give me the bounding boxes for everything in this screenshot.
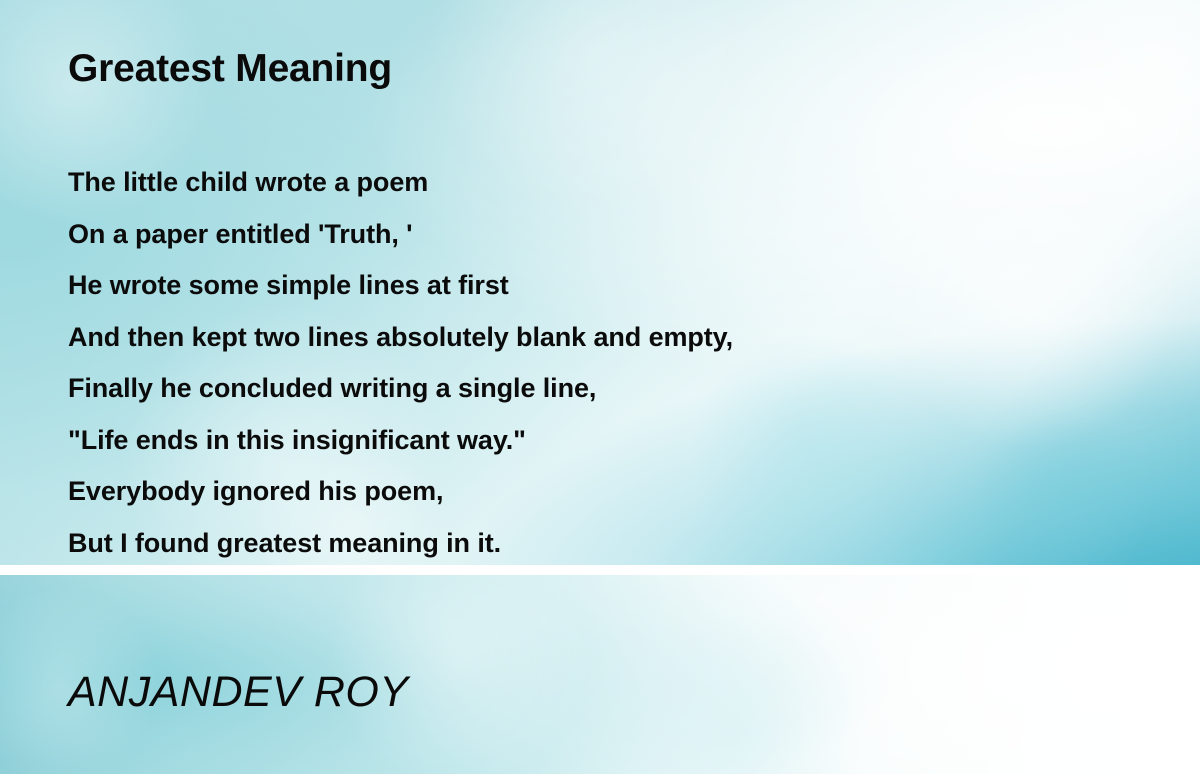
author-name: ANJANDEV ROY: [68, 668, 409, 717]
poem-content: Greatest Meaning The little child wrote …: [0, 0, 1200, 570]
panel-divider: [0, 565, 1200, 575]
poem-line: And then kept two lines absolutely blank…: [68, 312, 1128, 364]
poem-line: The little child wrote a poem: [68, 157, 1128, 209]
poem-line: "Life ends in this insignificant way.": [68, 415, 1128, 467]
bokeh-blur-circle: [620, 615, 860, 774]
poem-panel: Greatest Meaning The little child wrote …: [0, 0, 1200, 570]
poem-title: Greatest Meaning: [68, 47, 392, 91]
poem-line: Finally he concluded writing a single li…: [68, 363, 1128, 415]
poem-line: Everybody ignored his poem,: [68, 466, 1128, 518]
poem-line: He wrote some simple lines at first: [68, 260, 1128, 312]
poem-line: On a paper entitled 'Truth, ': [68, 209, 1128, 261]
poem-body: The little child wrote a poem On a paper…: [68, 157, 1128, 569]
poem-card: Greatest Meaning The little child wrote …: [0, 0, 1200, 774]
poem-line: But I found greatest meaning in it.: [68, 518, 1128, 570]
